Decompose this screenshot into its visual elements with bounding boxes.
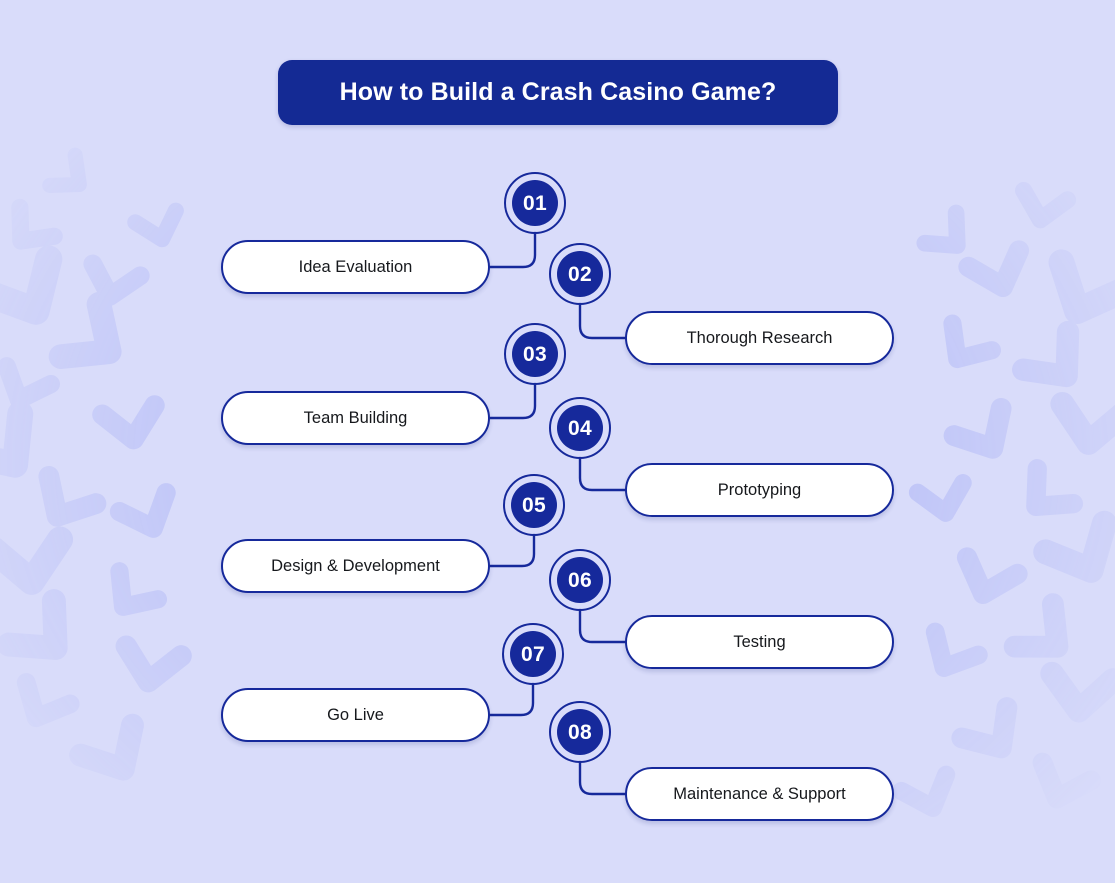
process-steps: 01Idea Evaluation02Thorough Research03Te… — [0, 0, 1115, 883]
step-number-label: 08 — [568, 722, 592, 743]
process-step: 08Maintenance & Support — [0, 0, 1115, 883]
step-label-text: Maintenance & Support — [673, 785, 845, 804]
step-label-pill[interactable]: Maintenance & Support — [625, 767, 894, 821]
infographic-canvas: How to Build a Crash Casino Game? 01Idea… — [0, 0, 1115, 883]
step-number-disc: 08 — [557, 709, 603, 755]
step-number-badge[interactable]: 08 — [549, 701, 611, 763]
step-elbow-connector — [580, 762, 625, 794]
